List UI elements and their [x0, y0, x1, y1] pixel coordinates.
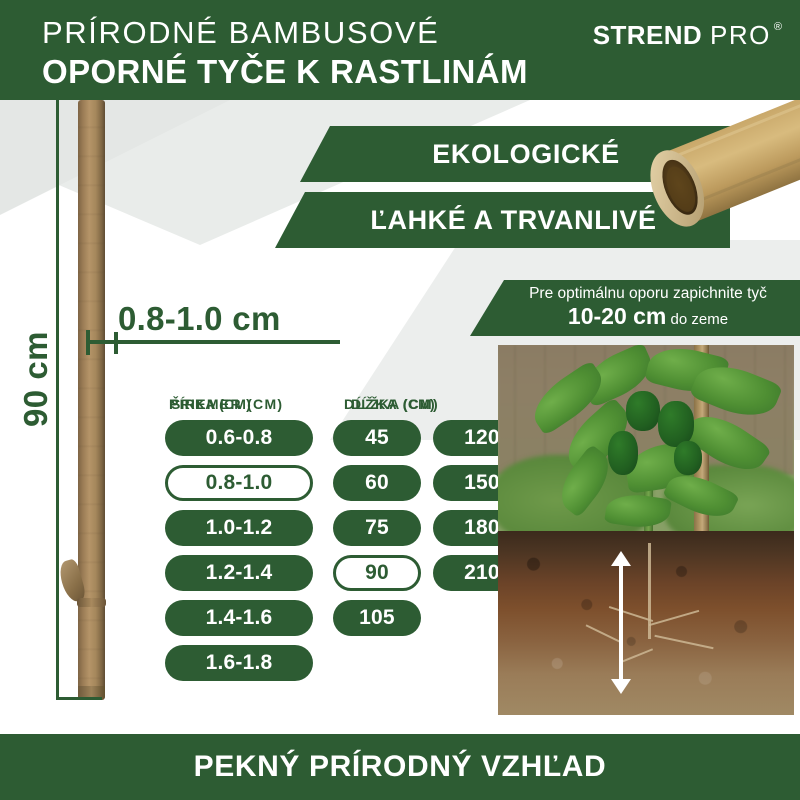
footer-bar: PEKNÝ PRÍRODNÝ VZHĽAD: [0, 734, 800, 800]
depth-arrow-down-icon: [611, 679, 631, 694]
diameter-option[interactable]: 1.4-1.6: [165, 600, 313, 636]
column-header-length-alt-text: DĹŽKA (CM): [344, 396, 439, 412]
photo-soil-texture: [498, 531, 794, 715]
logo-pro-text: PRO: [710, 20, 771, 51]
bamboo-tube-photo: [648, 92, 800, 260]
pole-node-ring: [77, 598, 106, 607]
planting-tip-box: Pre optimálnu oporu zapichnite tyč 10-20…: [470, 280, 800, 336]
planting-depth-value: 10-20 cm: [568, 303, 666, 329]
length-option[interactable]: 45: [333, 420, 421, 456]
diameter-option-selected[interactable]: 0.8-1.0: [165, 465, 313, 501]
registered-trademark-icon: ®: [774, 21, 782, 33]
diameter-option[interactable]: 0.6-0.8: [165, 420, 313, 456]
column-header-diameter-alt-text: PRIEMER (CM): [169, 396, 283, 412]
size-table-header-row: ŠÍRKA (CM) PRIEMER (CM) DĹŽKA (CM) DĹŽKA…: [165, 396, 531, 420]
diameter-option[interactable]: 1.6-1.8: [165, 645, 313, 681]
photo-pepper-fruit: [608, 431, 638, 475]
height-measure-foot: [56, 697, 102, 700]
column-header-diameter: ŠÍRKA (CM) PRIEMER (CM): [165, 396, 340, 420]
planting-tip-line1: Pre optimálnu oporu zapichnite tyč: [529, 284, 767, 304]
brand-logo: STREND PRO ®: [593, 20, 782, 51]
size-table-body: 0.6-0.8 0.8-1.0 1.0-1.2 1.2-1.4 1.4-1.6 …: [165, 420, 531, 681]
depth-arrow-shaft: [619, 563, 623, 683]
width-measure-tick-left: [86, 330, 90, 355]
height-measure-label: 90 cm: [17, 319, 55, 439]
length-option[interactable]: 75: [333, 510, 421, 546]
diameter-option[interactable]: 1.0-1.2: [165, 510, 313, 546]
width-measure-line: [86, 340, 340, 344]
diameter-option[interactable]: 1.2-1.4: [165, 555, 313, 591]
feature-banner-label: ĽAHKÉ A TRVANLIVÉ: [348, 205, 656, 236]
planting-tip-suffix: do zeme: [666, 311, 728, 328]
logo-strend-text: STREND: [593, 20, 702, 51]
height-measure-line: [56, 100, 59, 700]
diameter-options-column: 0.6-0.8 0.8-1.0 1.0-1.2 1.2-1.4 1.4-1.6 …: [165, 420, 313, 681]
photo-pepper-fruit: [674, 441, 702, 475]
footer-label: PEKNÝ PRÍRODNÝ VZHĽAD: [194, 750, 607, 784]
bamboo-pole-photo: [78, 100, 105, 700]
length-option-selected[interactable]: 90: [333, 555, 421, 591]
pole-grain-texture: [78, 100, 105, 700]
length-option[interactable]: 60: [333, 465, 421, 501]
bamboo-tube-illustration: [648, 92, 800, 260]
length-option[interactable]: 105: [333, 600, 421, 636]
photo-pepper-fruit: [626, 391, 660, 431]
page-title-line2: OPORNÉ TYČE K RASTLINÁM: [42, 52, 528, 92]
length-options-column-a: 45 60 75 90 105: [333, 420, 421, 681]
header-title-block: PRÍRODNÉ BAMBUSOVÉ OPORNÉ TYČE K RASTLIN…: [42, 14, 528, 92]
garden-plant-photo: [498, 345, 794, 715]
page-title-line1: PRÍRODNÉ BAMBUSOVÉ: [42, 14, 528, 52]
width-measure-label: 0.8-1.0 cm: [118, 300, 281, 338]
feature-banner-label: EKOLOGICKÉ: [410, 139, 620, 170]
header-bar: PRÍRODNÉ BAMBUSOVÉ OPORNÉ TYČE K RASTLIN…: [0, 0, 800, 100]
planting-tip-line2: 10-20 cm do zeme: [568, 304, 728, 332]
infographic-canvas: PRÍRODNÉ BAMBUSOVÉ OPORNÉ TYČE K RASTLIN…: [0, 0, 800, 800]
size-table: ŠÍRKA (CM) PRIEMER (CM) DĹŽKA (CM) DĹŽKA…: [165, 396, 531, 681]
